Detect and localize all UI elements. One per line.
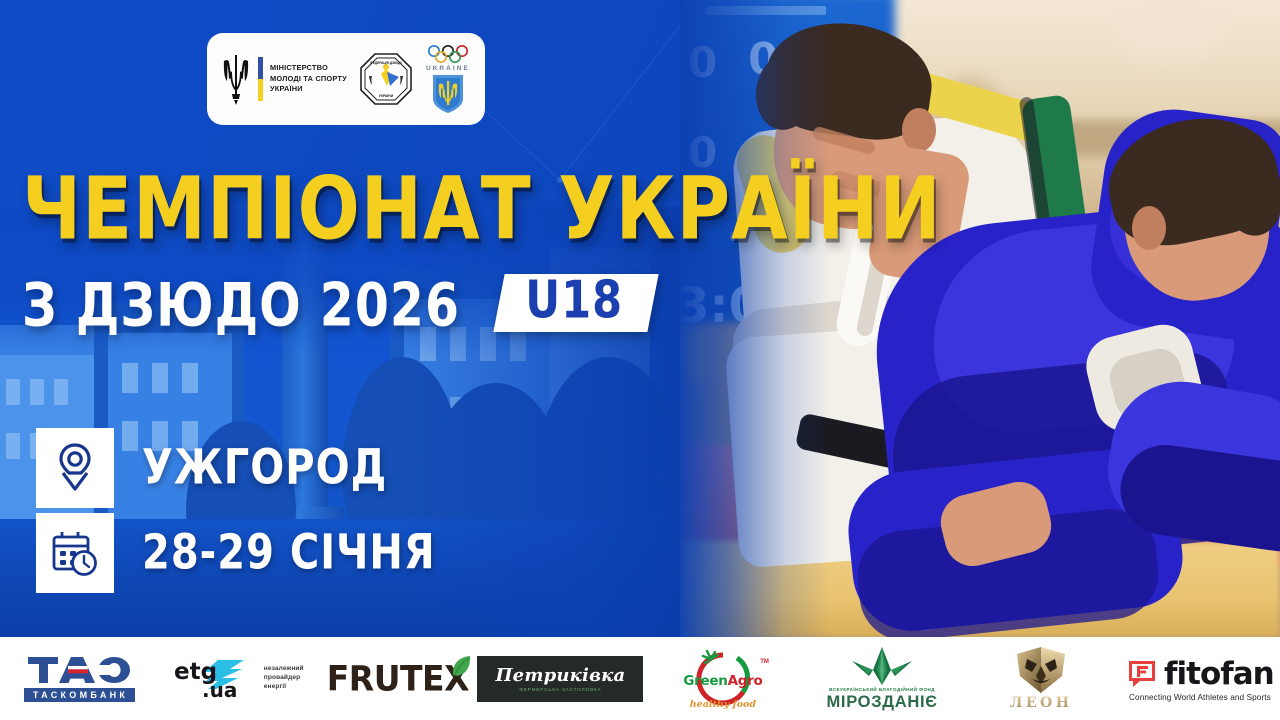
etg-lightning-icon: etg .ua xyxy=(174,657,258,701)
fitofan-tagline: Connecting World Athletes and Sports xyxy=(1127,693,1271,702)
judo-federation-badge: ФЕДЕРАЦІЯ ДЗЮДО УКРАЇНИ xyxy=(359,52,413,106)
map-pin-icon xyxy=(52,442,98,494)
sponsor-bar: ТАСКОМБАНК etg .ua незалежний провайдер … xyxy=(0,637,1280,720)
age-category-label: U18 xyxy=(525,276,623,328)
etg-tagline: незалежний провайдер енергії xyxy=(264,665,304,691)
ministry-logo: МІНІСТЕРСТВО МОЛОДІ ТА СПОРТУ УКРАЇНИ xyxy=(221,53,347,105)
trident-shield-icon xyxy=(431,73,465,115)
sponsor-etg-ua[interactable]: etg .ua незалежний провайдер енергії xyxy=(159,637,318,720)
leon-name: ЛЕОН xyxy=(1010,695,1072,711)
petrykivka-name: Петриківка xyxy=(495,665,625,686)
lion-head-icon xyxy=(1010,646,1072,694)
calendar-clock-icon xyxy=(50,528,100,578)
petrykivka-tagline: ФЕРМЕРСЬКА ЗАСТОЛОВКА xyxy=(519,687,601,692)
title-line-2: З ДЗЮДО 2026 xyxy=(22,276,460,336)
ministry-label: МІНІСТЕРСТВО МОЛОДІ ТА СПОРТУ УКРАЇНИ xyxy=(270,63,347,95)
title-line-1: ЧЕМПІОНАТ УКРАЇНИ xyxy=(22,168,785,251)
sponsor-frutex[interactable]: FRUTEX xyxy=(318,637,477,720)
svg-text:УКРАЇНИ: УКРАЇНИ xyxy=(379,94,394,98)
mirozdaniye-subtitle: ВСЕУКРАЇНСЬКИЙ БЛАГОДІЙНИЙ ФОНД xyxy=(829,687,935,692)
judo-photograph: 0 0 0 0 3:0 xyxy=(680,0,1280,637)
greenagro-tagline: healthy food xyxy=(671,699,775,710)
sponsor-mirozdaniye[interactable]: ВСЕУКРАЇНСЬКИЙ БЛАГОДІЙНИЙ ФОНД МІРОЗДАН… xyxy=(803,637,962,720)
calendar-clock-tile xyxy=(36,513,114,593)
olympic-rings-icon xyxy=(425,44,471,64)
venue-city-row: УЖГОРОД xyxy=(36,428,436,508)
venue-city: УЖГОРОД xyxy=(142,444,387,492)
venue-dates: 28-29 СІЧНЯ xyxy=(142,529,436,577)
flag-bar xyxy=(258,57,263,101)
greenagro-tm: TM xyxy=(760,659,769,665)
svg-text:.ua: .ua xyxy=(202,678,237,701)
greenagro-word-red: Agro xyxy=(728,673,763,689)
svg-text:ФЕДЕРАЦІЯ ДЗЮДО: ФЕДЕРАЦІЯ ДЗЮДО xyxy=(370,61,403,65)
event-subtitle-row: З ДЗЮДО 2026 U18 xyxy=(22,276,653,332)
sponsor-greenagro[interactable]: TM GreenAgro healthy food xyxy=(643,637,802,720)
olympic-country-label: UKRAINE xyxy=(426,65,470,72)
fitofan-name: fitofan xyxy=(1164,656,1274,692)
olympic-committee-logo: UKRAINE xyxy=(425,44,471,115)
venue-date-row: 28-29 СІЧНЯ xyxy=(36,513,436,593)
sponsor-tascombank[interactable]: ТАСКОМБАНК xyxy=(0,637,159,720)
trident-icon xyxy=(221,53,251,105)
greenagro-word-green: Green xyxy=(683,673,727,689)
event-title: ЧЕМПІОНАТ УКРАЇНИ xyxy=(22,168,742,234)
sponsor-petrykivka[interactable]: Петриківка ФЕРМЕРСЬКА ЗАСТОЛОВКА xyxy=(477,637,643,720)
map-pin-tile xyxy=(36,428,114,508)
leaf-icon xyxy=(450,655,472,681)
fitofan-chat-icon xyxy=(1127,659,1157,689)
tas-logo-icon xyxy=(28,655,132,685)
mirozdaniye-name: МІРОЗДАНІЄ xyxy=(826,693,937,712)
tascombank-name: ТАСКОМБАНК xyxy=(24,688,135,703)
green-star-icon xyxy=(851,646,913,686)
venue-details: УЖГОРОД xyxy=(36,428,436,593)
event-poster: 0 0 0 0 3:0 xyxy=(0,0,1280,720)
age-category-badge: U18 xyxy=(499,274,653,332)
frutex-name: FRUTEX xyxy=(327,658,469,699)
sponsor-leon[interactable]: ЛЕОН xyxy=(962,637,1121,720)
organizers-logo-bar: МІНІСТЕРСТВО МОЛОДІ ТА СПОРТУ УКРАЇНИ ФЕ… xyxy=(207,33,485,125)
sponsor-fitofan[interactable]: fitofan Connecting World Athletes and Sp… xyxy=(1121,637,1280,720)
